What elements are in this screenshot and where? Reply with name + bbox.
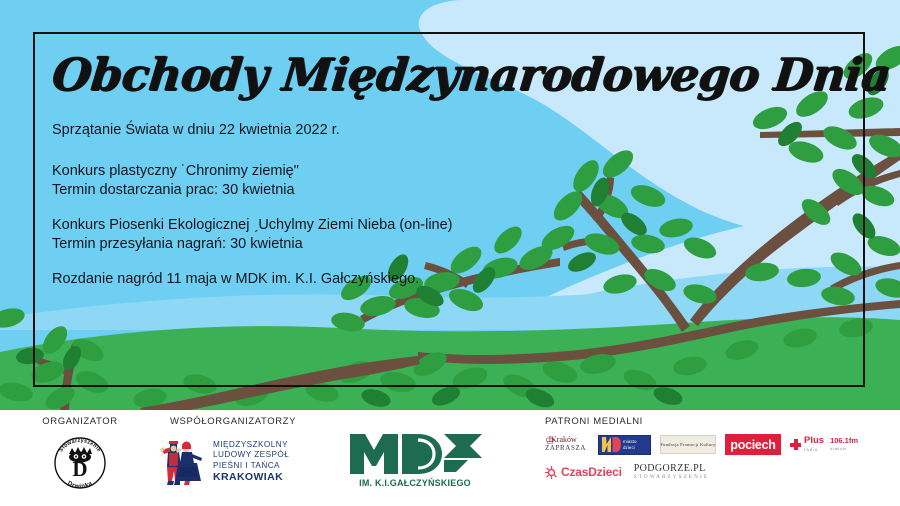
paragraph-konkurs-plastyczny: Konkurs plastyczny ˙Chronimy ziemię" Ter… <box>52 162 862 200</box>
drwinka-top-text: Stowarzyszenie <box>58 438 102 453</box>
paragraph-line: Rozdanie nagród 11 maja w MDK im. K.I. G… <box>52 270 862 289</box>
podgorze-sub: STOWARZYSZENIE <box>634 475 709 480</box>
czas-part: Czas <box>561 465 588 479</box>
poster-body: Sprzątanie Świata w dniu 22 kwietnia 202… <box>52 121 862 289</box>
wspolorganizatorzy-group: WSPÓŁORGANIZATORZY <box>148 416 318 489</box>
czasdzieci-logo: CzasDzieci <box>545 465 622 479</box>
fundacja-text: Fundacja Promocji Kultury <box>660 442 715 447</box>
fundacja-promocji-kultury-logo: Fundacja Promocji Kultury <box>660 435 716 454</box>
stowarzyszenie-drwinka-logo: D Stowarzyszenie Drwinka <box>49 434 111 492</box>
plus-freq-value: 106.1fm <box>830 436 858 445</box>
paragraph-sprzatanie: Sprzątanie Świata w dniu 22 kwietnia 202… <box>52 121 862 140</box>
footer-logos-bar: ORGANIZATOR D Stowarzyszenie D <box>0 410 900 506</box>
wspolorganizatorzy-heading: WSPÓŁORGANIZATORZY <box>148 416 318 427</box>
earth-day-poster: Obchody Międzynarodowego Dnia Ziemi Sprz… <box>0 0 900 506</box>
dzieci-part: Dzieci <box>588 465 621 479</box>
paragraph-line: Sprzątanie Świata w dniu 22 kwietnia 202… <box>52 121 862 140</box>
page-title: Obchody Międzynarodowego Dnia Ziemi <box>50 52 865 97</box>
czasdzieci-text: CzasDzieci <box>561 465 622 479</box>
plus-brand-name: Plus <box>804 435 824 446</box>
organizator-heading: ORGANIZATOR <box>20 416 140 427</box>
drwinka-bottom-text: Drwinka <box>66 480 94 490</box>
patroni-heading: PATRONI MEDIALNI <box>545 416 895 427</box>
mdk-subtitle: IM. K.I.GAŁCZYŃSKIEGO <box>330 478 500 488</box>
miasto-dzieci-logo: miasto dzieci <box>598 435 651 455</box>
krakowiak-line: LUDOWY ZESPÓŁ <box>213 450 289 461</box>
podgorze-name: PODGORZE.PL <box>634 464 709 474</box>
pociech-text: pociech <box>730 438 775 452</box>
mdk-group: IM. K.I.GAŁCZYŃSKIEGO <box>330 432 500 488</box>
paragraph-line: Konkurs plastyczny ˙Chronimy ziemię" <box>52 162 862 181</box>
krakow-line-2: ZAPRASZA <box>545 444 586 452</box>
organizator-group: ORGANIZATOR D Stowarzyszenie D <box>20 416 140 492</box>
czasdzieci-sun-icon <box>545 466 558 479</box>
plus-freq-sub: kraków <box>830 445 858 453</box>
krakowiak-text-block: MIĘDZYSZKOLNY LUDOWY ZESPÓŁ PIEŚNI I TAŃ… <box>213 440 289 482</box>
krakowiak-name: KRAKOWIAK <box>213 472 289 483</box>
krakowiak-dancers-icon <box>152 433 208 489</box>
paragraph-line: Termin dostarczania prac: 30 kwietnia <box>52 181 862 200</box>
paragraph-rozdanie-nagrod: Rozdanie nagród 11 maja w MDK im. K.I. G… <box>52 270 862 289</box>
paragraph-line: Termin przesyłania nagrań: 30 kwietnia <box>52 235 862 254</box>
md-line-2: dzieci <box>623 445 637 450</box>
krakow-zaprasza-logo: ♔ Kraków ZAPRASZA <box>545 435 589 455</box>
md-text-block: miasto dzieci <box>623 439 637 450</box>
plus-brand: Plus radio <box>804 436 824 454</box>
plus-frequency: 106.1fm kraków <box>830 437 858 453</box>
mdk-logo-mark <box>348 432 482 476</box>
poster-text-content: Obchody Międzynarodowego Dnia Ziemi Sprz… <box>52 52 862 305</box>
radio-plus-logo: Plus radio 106.1fm kraków <box>790 435 856 455</box>
drwinka-letter: D <box>72 457 87 481</box>
patroni-row-2: CzasDzieci PODGORZE.PL STOWARZYSZENIE <box>545 464 895 480</box>
md-line-1: miasto <box>623 439 637 444</box>
patroni-row-1: ♔ Kraków ZAPRASZA miasto dzieci <box>545 434 895 455</box>
plus-brand-sub: radio <box>804 445 824 454</box>
plus-cross-icon <box>790 439 801 450</box>
krakowiak-line: MIĘDZYSZKOLNY <box>213 440 289 451</box>
md-monogram-icon <box>602 437 621 452</box>
podgorze-pl-logo: PODGORZE.PL STOWARZYSZENIE <box>634 464 709 480</box>
krakow-line-1: Kraków <box>551 435 577 444</box>
paragraph-konkurs-piosenki: Konkurs Piosenki Ekologicznej ˏUchylmy Z… <box>52 216 862 254</box>
pociech-logo: pociech <box>725 434 781 455</box>
patroni-medialni-group: PATRONI MEDIALNI ♔ Kraków ZAPRASZA <box>545 416 895 480</box>
krakowiak-line: PIEŚNI I TAŃCA <box>213 461 289 472</box>
paragraph-line: Konkurs Piosenki Ekologicznej ˏUchylmy Z… <box>52 216 862 235</box>
